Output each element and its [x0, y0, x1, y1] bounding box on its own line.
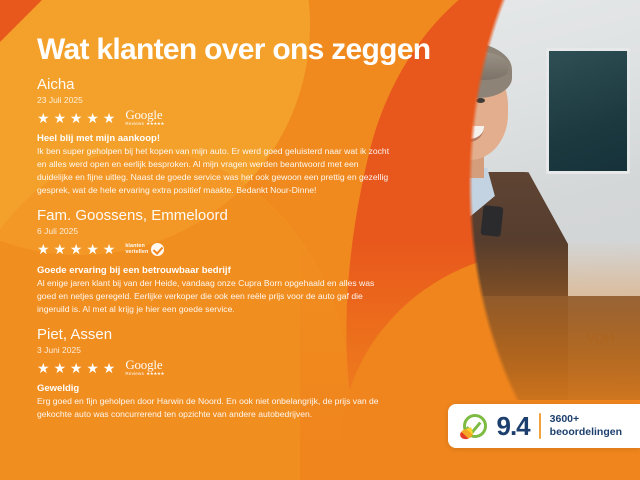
star-rating-icons: ★ ★ ★ ★ ★ — [37, 361, 115, 375]
google-reviews-text: Reviews — [125, 122, 144, 127]
reviews-list: Aicha 23 Juli 2025 ★ ★ ★ ★ ★ Google Revi… — [37, 76, 393, 431]
star-rating-icons: ★ ★ ★ ★ ★ — [37, 242, 115, 256]
klantenvertellen-check-icon — [462, 413, 488, 439]
google-reviews-logo: Google Reviews ★★★★★ — [125, 108, 164, 127]
review-item: Piet, Assen 3 Juni 2025 ★ ★ ★ ★ ★ Google… — [37, 326, 393, 421]
review-item: Aicha 23 Juli 2025 ★ ★ ★ ★ ★ Google Revi… — [37, 76, 393, 197]
review-body: Al enige jaren klant bij van der Heide, … — [37, 277, 393, 316]
google-wordmark: Google — [125, 358, 162, 371]
testimonials-banner: VDH Wat klanten over ons zeggen Aicha 23… — [0, 0, 640, 480]
reviewer-name: Piet, Assen — [37, 326, 393, 344]
review-date: 23 Juli 2025 — [37, 95, 393, 105]
logo-swoosh-shape — [458, 427, 473, 441]
rating-count-number: 3600+ — [550, 413, 580, 425]
google-mini-stars-icon: ★★★★★ — [146, 122, 164, 127]
klantenvertellen-line2: vertellen — [125, 249, 148, 255]
rating-score: 9.4 — [497, 413, 530, 439]
rating-row: ★ ★ ★ ★ ★ klanten vertellen — [37, 240, 393, 259]
review-title: Geweldig — [37, 383, 393, 394]
google-reviews-sublabel: Reviews ★★★★★ — [125, 372, 164, 377]
rating-row: ★ ★ ★ ★ ★ Google Reviews ★★★★★ — [37, 108, 393, 127]
google-mini-stars-icon: ★★★★★ — [146, 372, 164, 377]
google-reviews-text: Reviews — [125, 372, 144, 377]
google-reviews-logo: Google Reviews ★★★★★ — [125, 358, 164, 377]
google-wordmark: Google — [125, 108, 162, 121]
review-title: Heel blij met mijn aankoop! — [37, 133, 393, 144]
review-date: 3 Juni 2025 — [37, 345, 393, 355]
review-body: Erg goed en fijn geholpen door Harwin de… — [37, 395, 393, 421]
rating-count-label: beoordelingen — [550, 426, 622, 438]
star-rating-icons: ★ ★ ★ ★ ★ — [37, 111, 115, 125]
page-title: Wat klanten over ons zeggen — [37, 34, 430, 66]
klantenvertellen-line1: klanten — [125, 243, 145, 249]
klantenvertellen-wordmark: klanten vertellen — [125, 243, 148, 255]
aggregate-rating-badge[interactable]: 9.4 3600+ beoordelingen — [448, 404, 640, 448]
rating-row: ★ ★ ★ ★ ★ Google Reviews ★★★★★ — [37, 358, 393, 377]
check-circle-icon — [151, 243, 164, 256]
klantenvertellen-logo: klanten vertellen — [125, 243, 164, 256]
banner-content: Wat klanten over ons zeggen Aicha 23 Jul… — [0, 0, 640, 480]
review-item: Fam. Goossens, Emmeloord 6 Juli 2025 ★ ★… — [37, 207, 393, 315]
rating-divider — [539, 413, 541, 439]
review-body: Ik ben super geholpen bij het kopen van … — [37, 145, 393, 197]
google-reviews-sublabel: Reviews ★★★★★ — [125, 122, 164, 127]
reviewer-name: Aicha — [37, 76, 393, 94]
review-date: 6 Juli 2025 — [37, 226, 393, 236]
review-title: Goede ervaring bij een betrouwbaar bedri… — [37, 265, 393, 276]
rating-count: 3600+ beoordelingen — [550, 413, 622, 439]
reviewer-name: Fam. Goossens, Emmeloord — [37, 207, 393, 225]
